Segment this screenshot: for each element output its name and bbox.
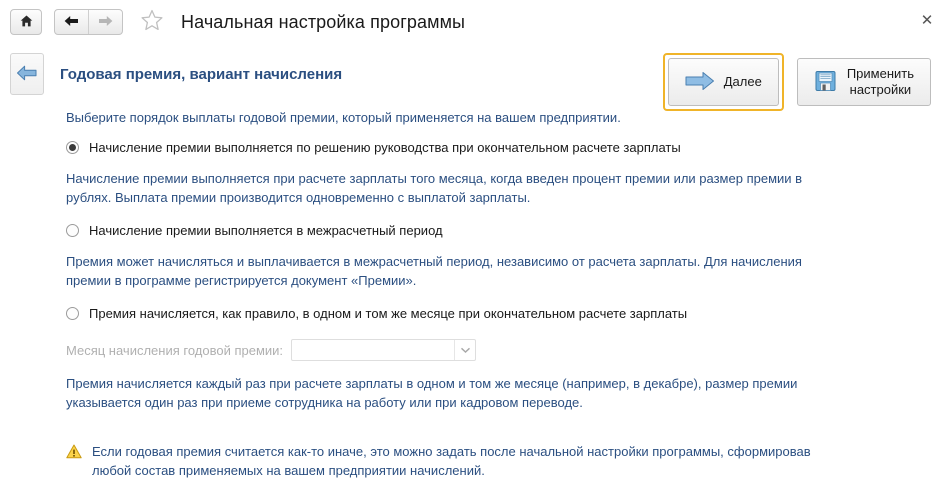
warning-triangle-icon	[66, 444, 82, 462]
warning-message: Если годовая премия считается как-то ина…	[66, 443, 936, 481]
next-button[interactable]: Далее	[668, 58, 779, 106]
main-content: Выберите порядок выплаты годовой премии,…	[0, 110, 950, 481]
page-title: Начальная настройка программы	[181, 12, 465, 33]
radio-option-2-description: Премия может начисляться и выплачивается…	[66, 253, 826, 291]
home-button[interactable]	[10, 9, 42, 35]
warning-text: Если годовая премия считается как-то ина…	[92, 443, 847, 481]
save-floppy-icon	[814, 69, 838, 96]
radio-option-3-description: Премия начисляется каждый раз при расчет…	[66, 375, 826, 413]
star-icon	[140, 9, 164, 35]
action-buttons: Далее Применить	[663, 53, 936, 111]
radio-option-1[interactable]: Начисление премии выполняется по решению…	[66, 140, 936, 156]
month-field-row: Месяц начисления годовой премии:	[66, 339, 936, 361]
intro-text: Выберите порядок выплаты годовой премии,…	[66, 110, 936, 125]
next-button-focus-ring: Далее	[663, 53, 784, 111]
arrow-right-icon	[98, 15, 113, 30]
arrow-left-blue-icon	[16, 64, 38, 85]
month-select-value[interactable]	[292, 340, 454, 360]
radio-option-1-label: Начисление премии выполняется по решению…	[89, 140, 681, 156]
back-button[interactable]	[55, 10, 88, 34]
chevron-down-icon[interactable]	[454, 340, 475, 360]
radio-option-2[interactable]: Начисление премии выполняется в межрасче…	[66, 223, 936, 239]
section-back-button[interactable]	[10, 53, 44, 95]
apply-settings-button[interactable]: Применить настройки	[797, 58, 931, 106]
window-toolbar: Начальная настройка программы ✕	[0, 0, 950, 44]
close-icon[interactable]: ✕	[918, 11, 936, 29]
radio-button-2[interactable]	[66, 224, 79, 237]
section-title: Годовая премия, вариант начисления	[60, 66, 342, 83]
nav-button-group	[54, 9, 123, 35]
arrow-left-icon	[64, 15, 79, 30]
radio-option-3-label: Премия начисляется, как правило, в одном…	[89, 306, 687, 322]
month-select[interactable]	[291, 339, 476, 361]
month-field-label: Месяц начисления годовой премии:	[66, 343, 283, 358]
next-button-label: Далее	[724, 74, 762, 90]
home-icon	[20, 15, 33, 30]
apply-label-line2: настройки	[847, 82, 914, 98]
radio-button-1[interactable]	[66, 141, 79, 154]
radio-option-3[interactable]: Премия начисляется, как правило, в одном…	[66, 306, 936, 322]
favorite-button[interactable]	[139, 9, 165, 35]
apply-button-wrap: Применить настройки	[792, 53, 936, 111]
radio-option-1-description: Начисление премии выполняется при расчет…	[66, 170, 826, 208]
apply-label-line1: Применить	[847, 66, 914, 81]
forward-button[interactable]	[88, 10, 122, 34]
apply-settings-button-label: Применить настройки	[847, 66, 914, 97]
radio-button-3[interactable]	[66, 307, 79, 320]
radio-option-2-label: Начисление премии выполняется в межрасче…	[89, 223, 443, 239]
section-header: Годовая премия, вариант начисления Далее	[0, 44, 950, 104]
arrow-right-blue-icon	[685, 70, 715, 95]
